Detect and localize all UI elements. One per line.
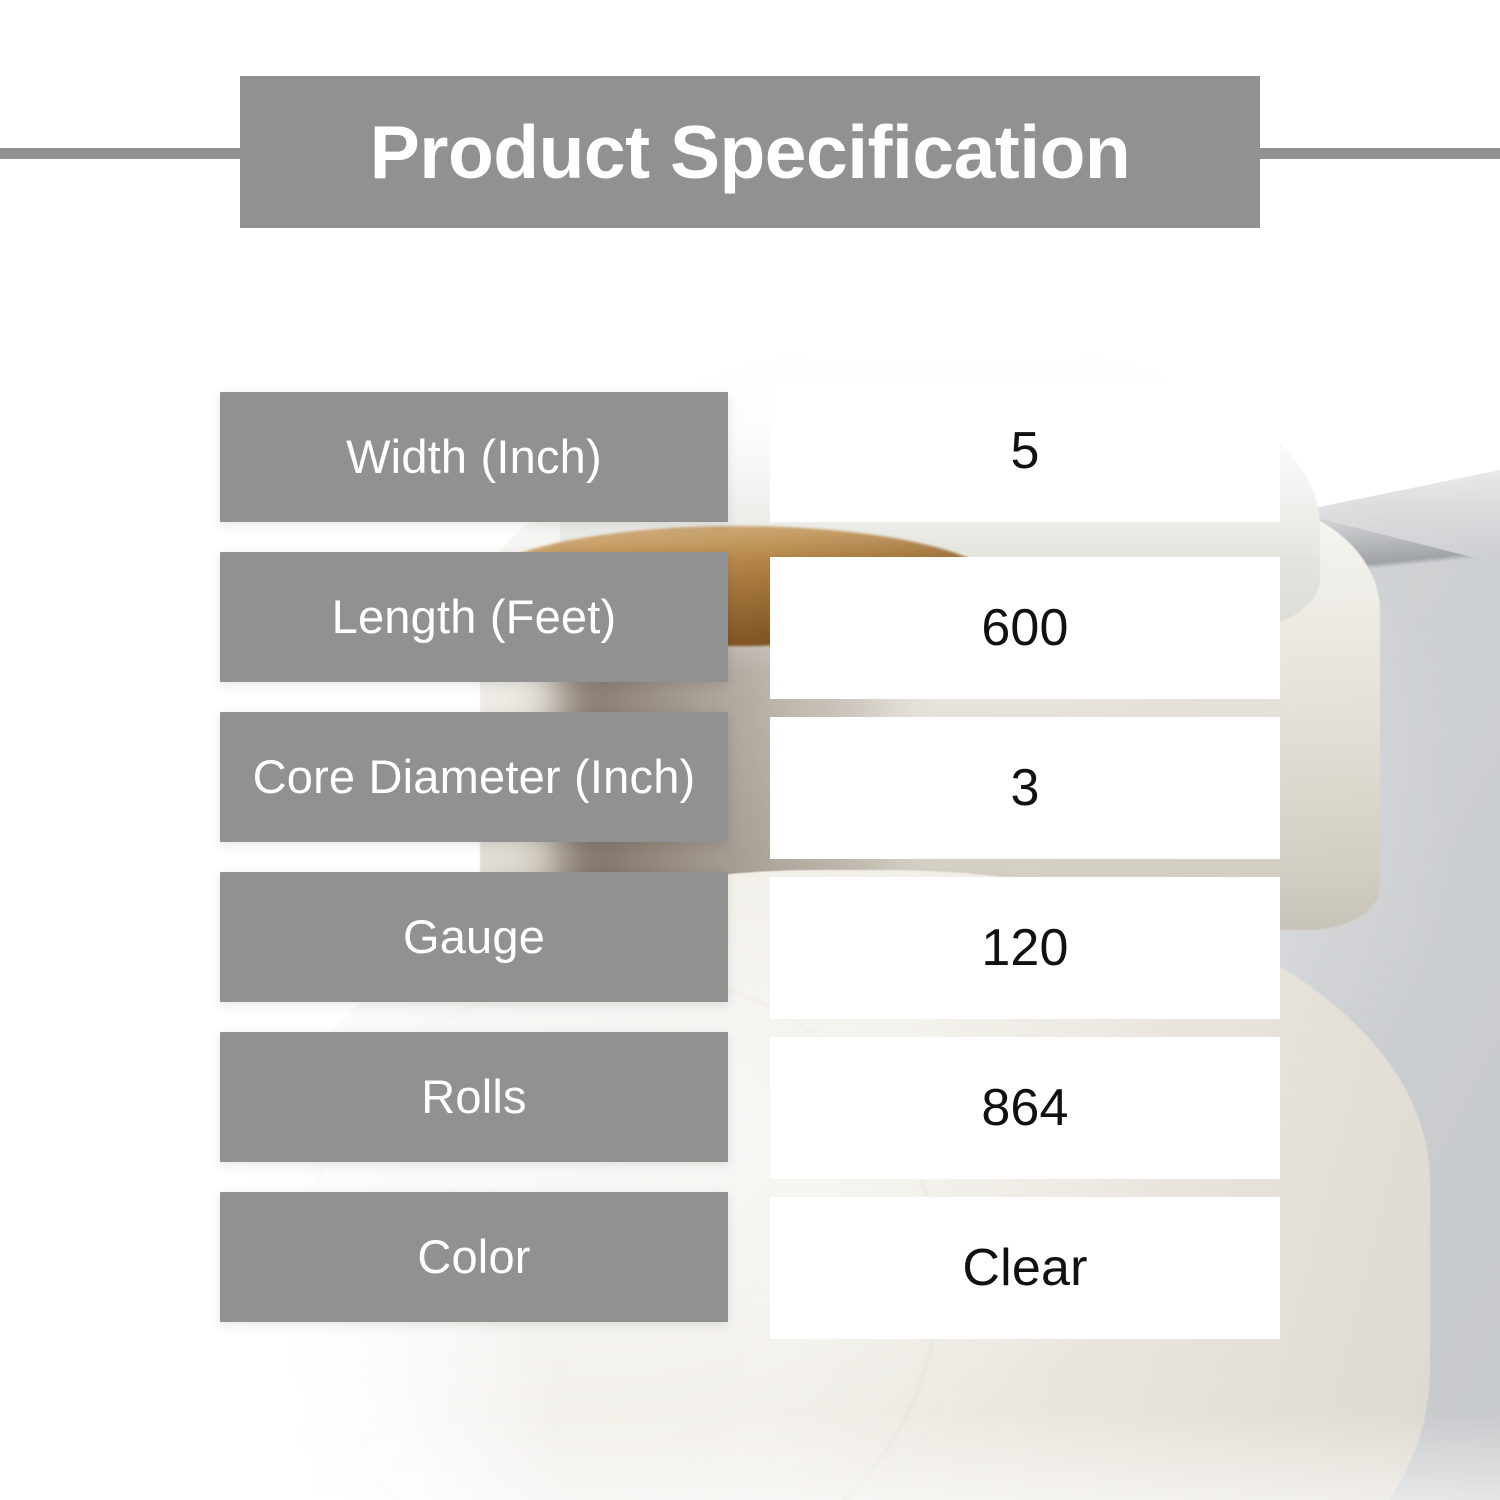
spec-label-cell: Width (Inch) [220,392,728,522]
spec-value-text: Clear [962,1241,1087,1296]
spec-label-text: Length (Feet) [320,592,629,642]
spec-label-text: Gauge [391,912,557,962]
spec-label-text: Width (Inch) [334,432,614,482]
spec-value-cell: 600 [770,557,1280,699]
spec-label-cell: Rolls [220,1032,728,1162]
spec-value-text: 3 [1010,761,1039,816]
spec-value-text: 600 [981,601,1068,656]
specification-table: Width (Inch)5Length (Feet)600Core Diamet… [0,0,1500,1500]
spec-label-cell: Gauge [220,872,728,1002]
spec-label-text: Core Diameter (Inch) [241,752,708,802]
spec-label-cell: Length (Feet) [220,552,728,682]
product-specification-page: Product Specification Width (Inch)5Lengt… [0,0,1500,1500]
spec-value-cell: 120 [770,877,1280,1019]
spec-label-cell: Core Diameter (Inch) [220,712,728,842]
spec-value-text: 864 [981,1081,1068,1136]
spec-value-cell: 5 [770,380,1280,522]
spec-value-text: 5 [1010,424,1039,479]
spec-label-text: Color [405,1232,542,1282]
spec-label-cell: Color [220,1192,728,1322]
spec-value-cell: Clear [770,1197,1280,1339]
spec-value-cell: 864 [770,1037,1280,1179]
spec-label-text: Rolls [409,1072,538,1122]
spec-value-cell: 3 [770,717,1280,859]
spec-value-text: 120 [981,921,1068,976]
